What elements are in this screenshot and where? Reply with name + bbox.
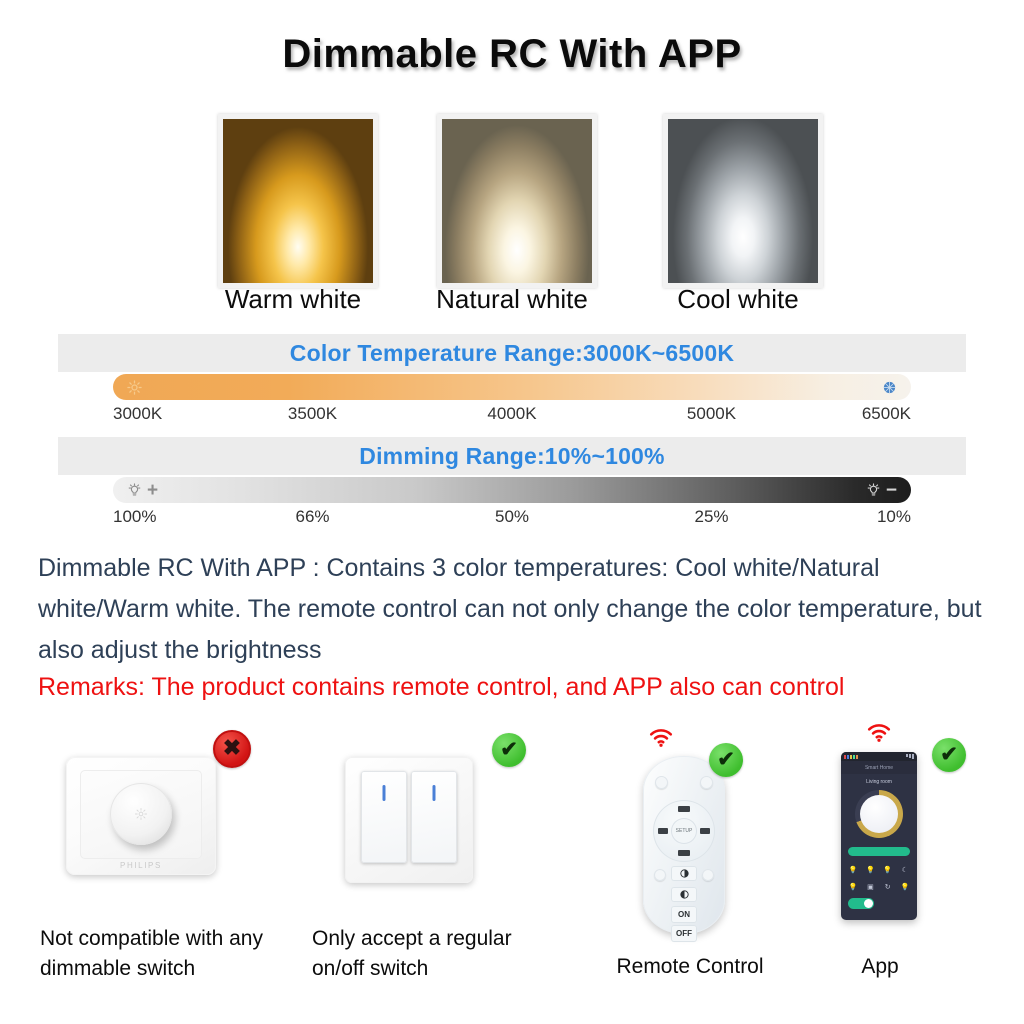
bulb-minus-icon: − (866, 481, 897, 500)
check-badge-onoff: ✔ (492, 733, 526, 767)
wifi-icon-remote (648, 727, 674, 752)
dimming-header-text: Dimming Range:10%~100% (359, 443, 664, 470)
remote-button-mid-right[interactable] (702, 869, 714, 881)
caption-mobile-app: App (800, 952, 960, 982)
app-grid-bulb-5[interactable]: 💡 (899, 881, 911, 893)
status-icons-right (906, 754, 914, 759)
check-badge-app: ✔ (932, 738, 966, 772)
app-grid-moon[interactable]: ☾ (899, 864, 911, 876)
dpad-down[interactable] (678, 850, 690, 856)
panel-natural-white: Natural white (437, 114, 597, 288)
check-badge-glyph-remote: ✔ (717, 749, 735, 770)
panel-warm-white: Warm white (218, 114, 378, 288)
remote-button-top-left[interactable] (655, 776, 668, 789)
ct-tick-4: 6500K (862, 404, 911, 424)
app-grid-bulb-1[interactable]: 💡 (847, 864, 859, 876)
app-title-bar: Smart Home (841, 761, 917, 774)
color-temperature-header: Color Temperature Range:3000K~6500K (58, 334, 966, 372)
dim-tick-2: 50% (495, 507, 529, 527)
onoff-switch-plate (345, 757, 473, 883)
warm-light-panel (218, 114, 378, 288)
product-onoff-switch (345, 757, 473, 883)
remote-on-key[interactable]: ON (671, 906, 697, 923)
minus-sign: − (886, 481, 897, 500)
color-temperature-ticks: 3000K 3500K 4000K 5000K 6500K (113, 404, 911, 426)
snowflake-icon (882, 380, 897, 395)
light-panels-row: Warm white Natural white Cool white (0, 114, 1024, 314)
dim-tick-3: 25% (694, 507, 728, 527)
app-grid-bulb-4[interactable]: 💡 (847, 881, 859, 893)
caption-remote-control: Remote Control (600, 952, 780, 982)
phone-screen[interactable]: Smart Home Living room 💡 💡 💡 ☾ 💡 ▣ ↻ 💡 (841, 752, 917, 920)
dpad-left[interactable] (658, 828, 668, 834)
status-icons-left (844, 755, 858, 759)
ct-tick-1: 3500K (288, 404, 337, 424)
bulb-plus-icon: + (127, 481, 158, 500)
app-icon-grid: 💡 💡 💡 ☾ 💡 ▣ ↻ 💡 (841, 856, 917, 893)
color-temperature-slider[interactable] (113, 374, 911, 400)
remote-setup-button[interactable]: SETUP (671, 818, 697, 844)
app-grid-bulb-3[interactable]: 💡 (882, 864, 894, 876)
brightness-icon (134, 807, 148, 821)
dim-tick-0: 100% (113, 507, 156, 527)
color-temperature-bar[interactable] (113, 374, 911, 400)
app-brightness-slider[interactable] (848, 847, 910, 856)
app-grid-refresh[interactable]: ↻ (882, 881, 894, 893)
app-power-toggle[interactable] (848, 898, 874, 909)
caption-onoff-switch: Only accept a regular on/off switch (312, 924, 547, 984)
dimmer-switch-plate: PHILIPS (66, 757, 216, 875)
brightness-half-icon (679, 868, 690, 879)
cool-light-panel (663, 114, 823, 288)
remote-button-top-right[interactable] (700, 776, 713, 789)
app-brightness-dial[interactable] (855, 790, 903, 838)
dimming-ticks: 100% 66% 50% 25% 10% (113, 507, 911, 529)
remarks-text: Remarks: The product contains remote con… (38, 670, 1008, 704)
ct-tick-0: 3000K (113, 404, 162, 424)
app-dial-inner (860, 795, 898, 833)
led-indicator-left (383, 785, 386, 801)
x-badge: ✖ (213, 730, 251, 768)
dimming-slider[interactable]: + − (113, 477, 911, 503)
remote-brightness-key[interactable] (671, 866, 697, 881)
ct-tick-3: 5000K (687, 404, 736, 424)
sun-icon (127, 380, 142, 395)
plus-sign: + (147, 481, 158, 500)
check-badge-glyph: ✔ (500, 739, 518, 760)
check-badge-remote: ✔ (709, 743, 743, 777)
panel-label-natural: Natural white (382, 284, 642, 315)
philips-brand-label: PHILIPS (66, 861, 216, 870)
panel-cool-white: Cool white (663, 114, 823, 288)
description-text: Dimmable RC With APP : Contains 3 color … (38, 548, 990, 671)
dpad-right[interactable] (700, 828, 710, 834)
dpad-up[interactable] (678, 806, 690, 812)
remote-button-mid-left[interactable] (654, 869, 666, 881)
panel-label-cool: Cool white (608, 284, 868, 315)
remote-body: SETUP ON OFF (643, 756, 725, 934)
contrast-icon (679, 889, 690, 900)
rocker-right[interactable] (411, 771, 457, 863)
led-indicator-right (433, 785, 436, 801)
caption-dimmer-switch: Not compatible with any dimmable switch (40, 924, 270, 984)
page-title: Dimmable RC With APP (0, 32, 1024, 77)
check-badge-glyph-app: ✔ (940, 744, 958, 765)
product-mobile-app: Smart Home Living room 💡 💡 💡 ☾ 💡 ▣ ↻ 💡 (841, 752, 917, 920)
phone-status-bar (841, 752, 917, 761)
product-remote-control: SETUP ON OFF (643, 756, 725, 934)
remote-off-key[interactable]: OFF (671, 925, 697, 942)
dimmer-knob[interactable] (110, 783, 172, 845)
remote-dpad[interactable]: SETUP (653, 800, 715, 862)
dimming-header: Dimming Range:10%~100% (58, 437, 966, 475)
ct-tick-2: 4000K (487, 404, 536, 424)
app-grid-scene[interactable]: ▣ (864, 881, 876, 893)
app-room-label: Living room (841, 774, 917, 785)
dimming-bar[interactable]: + − (113, 477, 911, 503)
app-grid-bulb-2[interactable]: 💡 (864, 864, 876, 876)
dim-tick-1: 66% (295, 507, 329, 527)
color-temperature-header-text: Color Temperature Range:3000K~6500K (290, 340, 734, 367)
wifi-icon-app (866, 722, 892, 747)
app-title: Smart Home (865, 765, 893, 771)
dim-tick-4: 10% (877, 507, 911, 527)
remote-contrast-key[interactable] (671, 887, 697, 902)
product-dimmer-switch: PHILIPS (66, 757, 216, 875)
natural-light-panel (437, 114, 597, 288)
remote-setup-label: SETUP (676, 828, 693, 834)
x-badge-glyph: ✖ (223, 737, 241, 759)
infographic-page: Dimmable RC With APP Warm white Natural … (0, 0, 1024, 1024)
rocker-left[interactable] (361, 771, 407, 863)
